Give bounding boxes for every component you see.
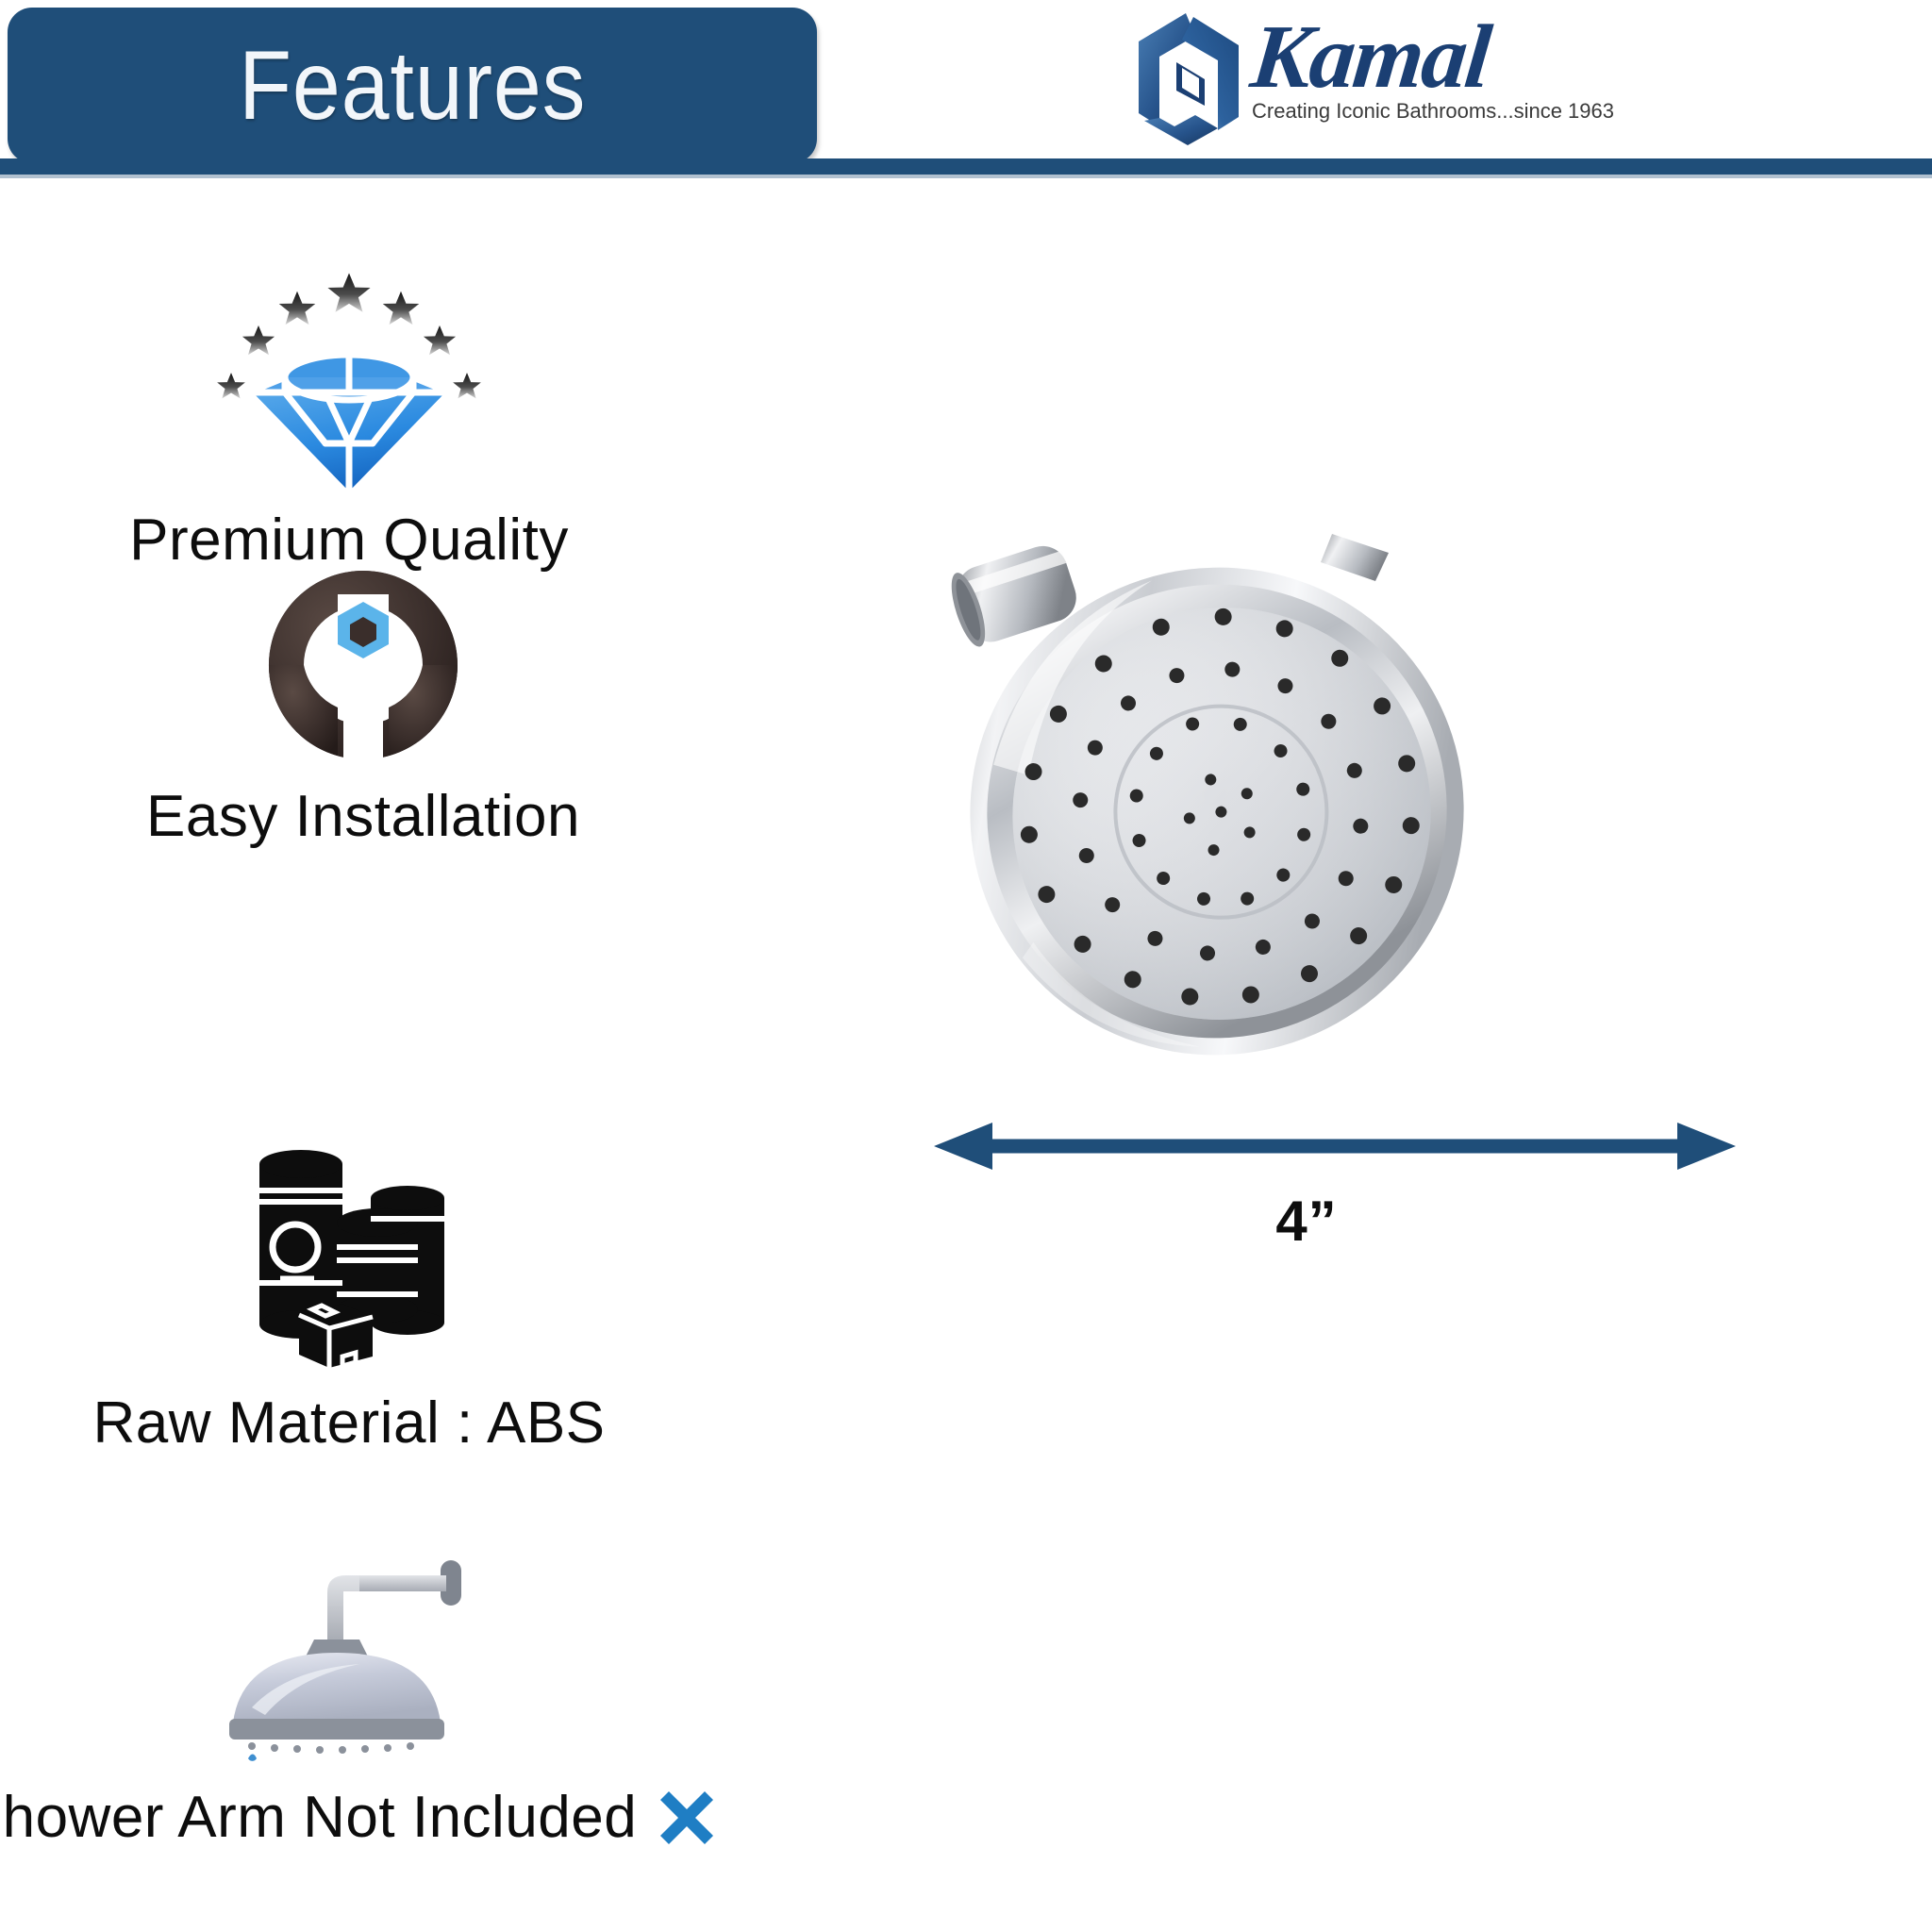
blue-x-mark-icon: [658, 1789, 716, 1847]
feature-label-premium-quality: Premium Quality: [0, 509, 811, 571]
barrels-drums-icon: [231, 1141, 467, 1368]
header-divider-shadow: [0, 175, 1932, 178]
feature-label-row: Shower Arm Not Included: [0, 1787, 802, 1848]
feature-item-raw-material: Raw Material : ABS: [0, 1141, 811, 1454]
product-showcase: 4”: [906, 509, 1932, 1547]
page-header: Features: [0, 0, 1932, 189]
feature-label-raw-material: Raw Material : ABS: [0, 1392, 811, 1454]
feature-item-shower-arm: Shower Arm Not Included: [0, 1538, 802, 1848]
dimension-arrow: [934, 1123, 1736, 1170]
diamond-stars-icon: [193, 217, 505, 500]
feature-icon-wrap: [0, 1538, 802, 1773]
brand-text-block: Kamal Creating Iconic Bathrooms...since …: [1252, 8, 1614, 124]
feature-icon-wrap: [0, 217, 811, 500]
page-title: Features: [239, 37, 586, 135]
feature-label-shower-arm: Shower Arm Not Included: [0, 1787, 637, 1848]
feature-item-premium-quality: Premium Quality: [0, 217, 811, 571]
brand-wordmark: Kamal: [1247, 13, 1619, 99]
feature-icon-wrap: [0, 1141, 811, 1368]
feature-item-easy-installation: Easy Installation: [0, 566, 825, 847]
header-divider-bar: [0, 158, 1932, 175]
hexagon-logo-icon: [1127, 8, 1248, 149]
features-banner: Features: [8, 8, 817, 163]
brand-logo: Kamal Creating Iconic Bathrooms...since …: [1127, 8, 1457, 158]
feature-icon-wrap: [0, 566, 825, 769]
wrench-circle-icon: [264, 566, 462, 769]
shower-arm-icon: [184, 1538, 495, 1773]
feature-label-easy-installation: Easy Installation: [0, 786, 825, 847]
chrome-shower-head-photo: [906, 509, 1509, 1094]
features-list: Premium Quality: [0, 198, 924, 1924]
dimension-label: 4”: [906, 1189, 1707, 1254]
